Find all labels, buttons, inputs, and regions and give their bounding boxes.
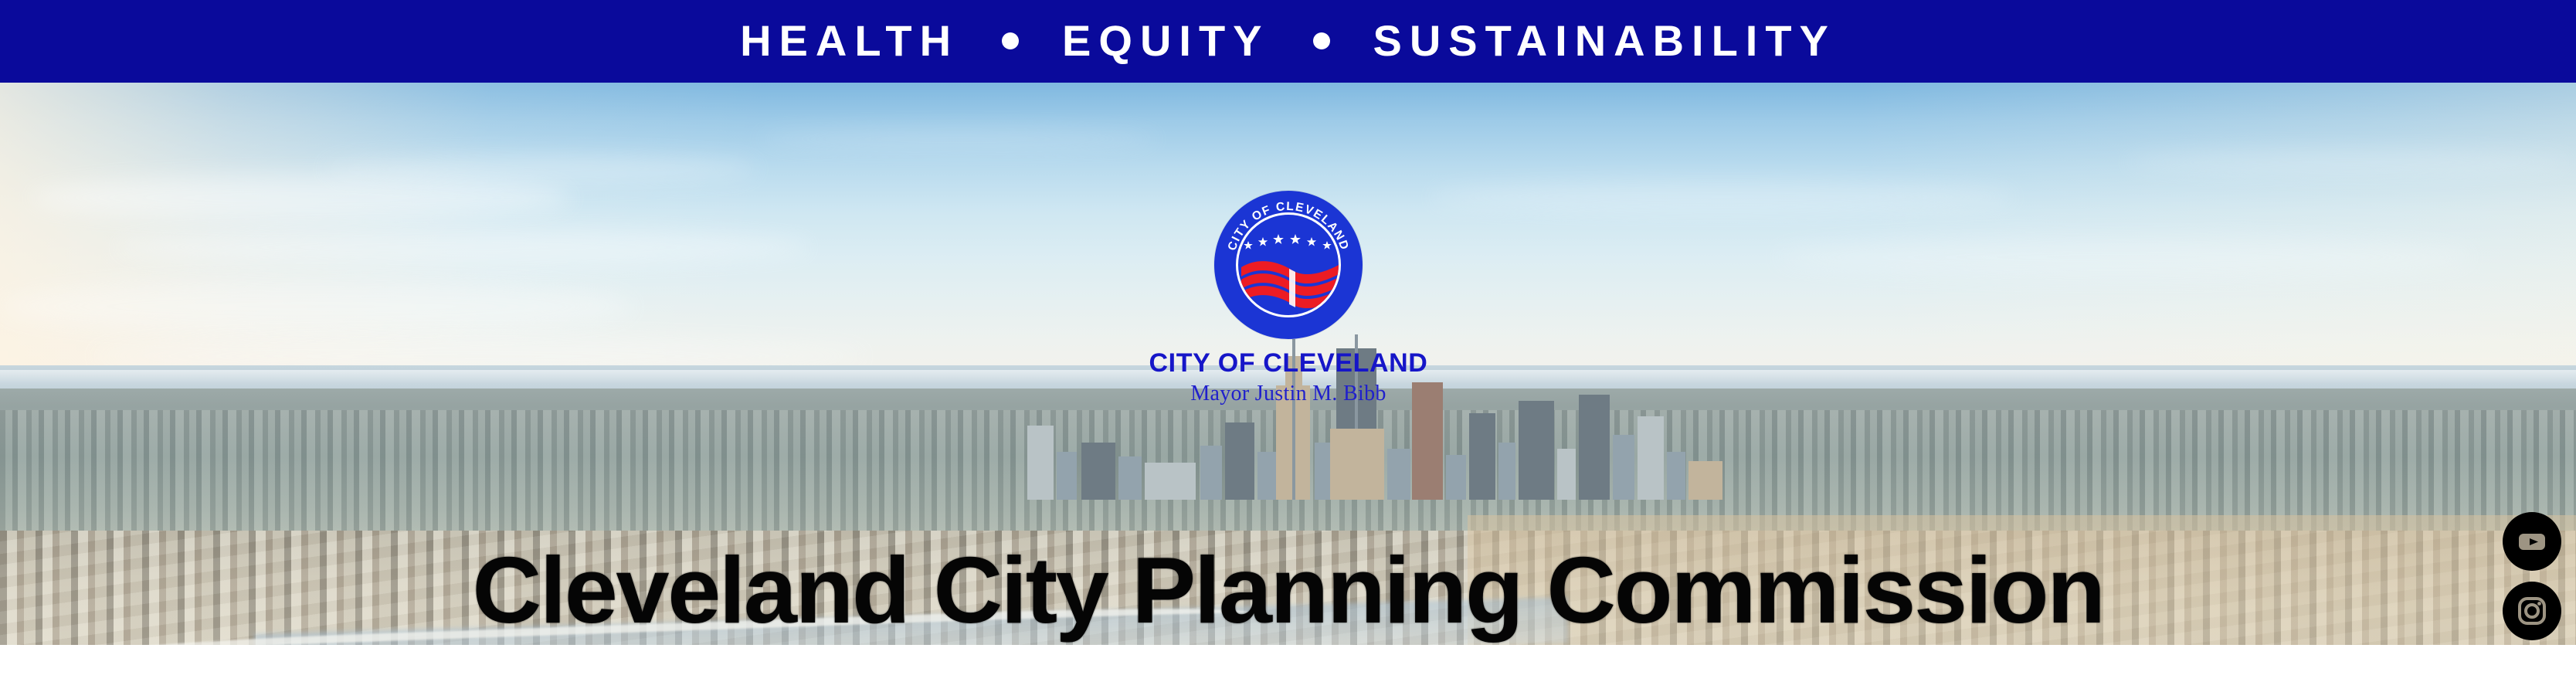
youtube-button[interactable] bbox=[2503, 512, 2561, 571]
bullet-dot-icon bbox=[1002, 32, 1019, 49]
cloud-wisp bbox=[757, 129, 1159, 149]
cleveland-aerial-photo: CITY OF CLEVELAND OHIO bbox=[0, 83, 2576, 645]
cloud-wisp bbox=[2124, 151, 2572, 174]
tagline-word-equity: EQUITY bbox=[1062, 19, 1269, 63]
tagline-word-sustainability: SUSTAINABILITY bbox=[1373, 19, 1836, 63]
cloud-wisp bbox=[1429, 182, 2016, 212]
seal-flag-icon bbox=[1238, 250, 1339, 317]
instagram-icon bbox=[2514, 593, 2550, 629]
cloud-wisp bbox=[1777, 237, 2472, 277]
cloud-wisp bbox=[31, 175, 572, 220]
tagline-word-health: HEALTH bbox=[740, 19, 959, 63]
bullet-dot-icon bbox=[1313, 32, 1330, 49]
bottom-white-strip bbox=[0, 645, 2576, 682]
city-of-cleveland-title: CITY OF CLEVELAND bbox=[1142, 350, 1435, 378]
cloud-wisp bbox=[0, 280, 633, 334]
social-media-rail bbox=[2501, 512, 2563, 645]
tagline-banner: HEALTH EQUITY SUSTAINABILITY bbox=[0, 0, 2576, 83]
instagram-button[interactable] bbox=[2503, 582, 2561, 640]
hero-photo-banner: CITY OF CLEVELAND OHIO bbox=[0, 83, 2576, 645]
cloud-wisp bbox=[116, 229, 811, 265]
tagline-banner-inner: HEALTH EQUITY SUSTAINABILITY bbox=[740, 19, 1836, 63]
seal-inner-ring bbox=[1236, 212, 1341, 317]
youtube-icon bbox=[2514, 524, 2550, 559]
city-seal-lockup: CITY OF CLEVELAND OHIO bbox=[1142, 191, 1435, 384]
cloud-wisp bbox=[324, 156, 757, 182]
city-of-cleveland-seal-icon: CITY OF CLEVELAND OHIO bbox=[1214, 191, 1363, 339]
page-title: Cleveland City Planning Commission bbox=[0, 543, 2576, 637]
waving-flag-graphic bbox=[1238, 250, 1341, 317]
mayor-name-subtitle: Mayor Justin M. Bibb bbox=[1142, 382, 1435, 405]
